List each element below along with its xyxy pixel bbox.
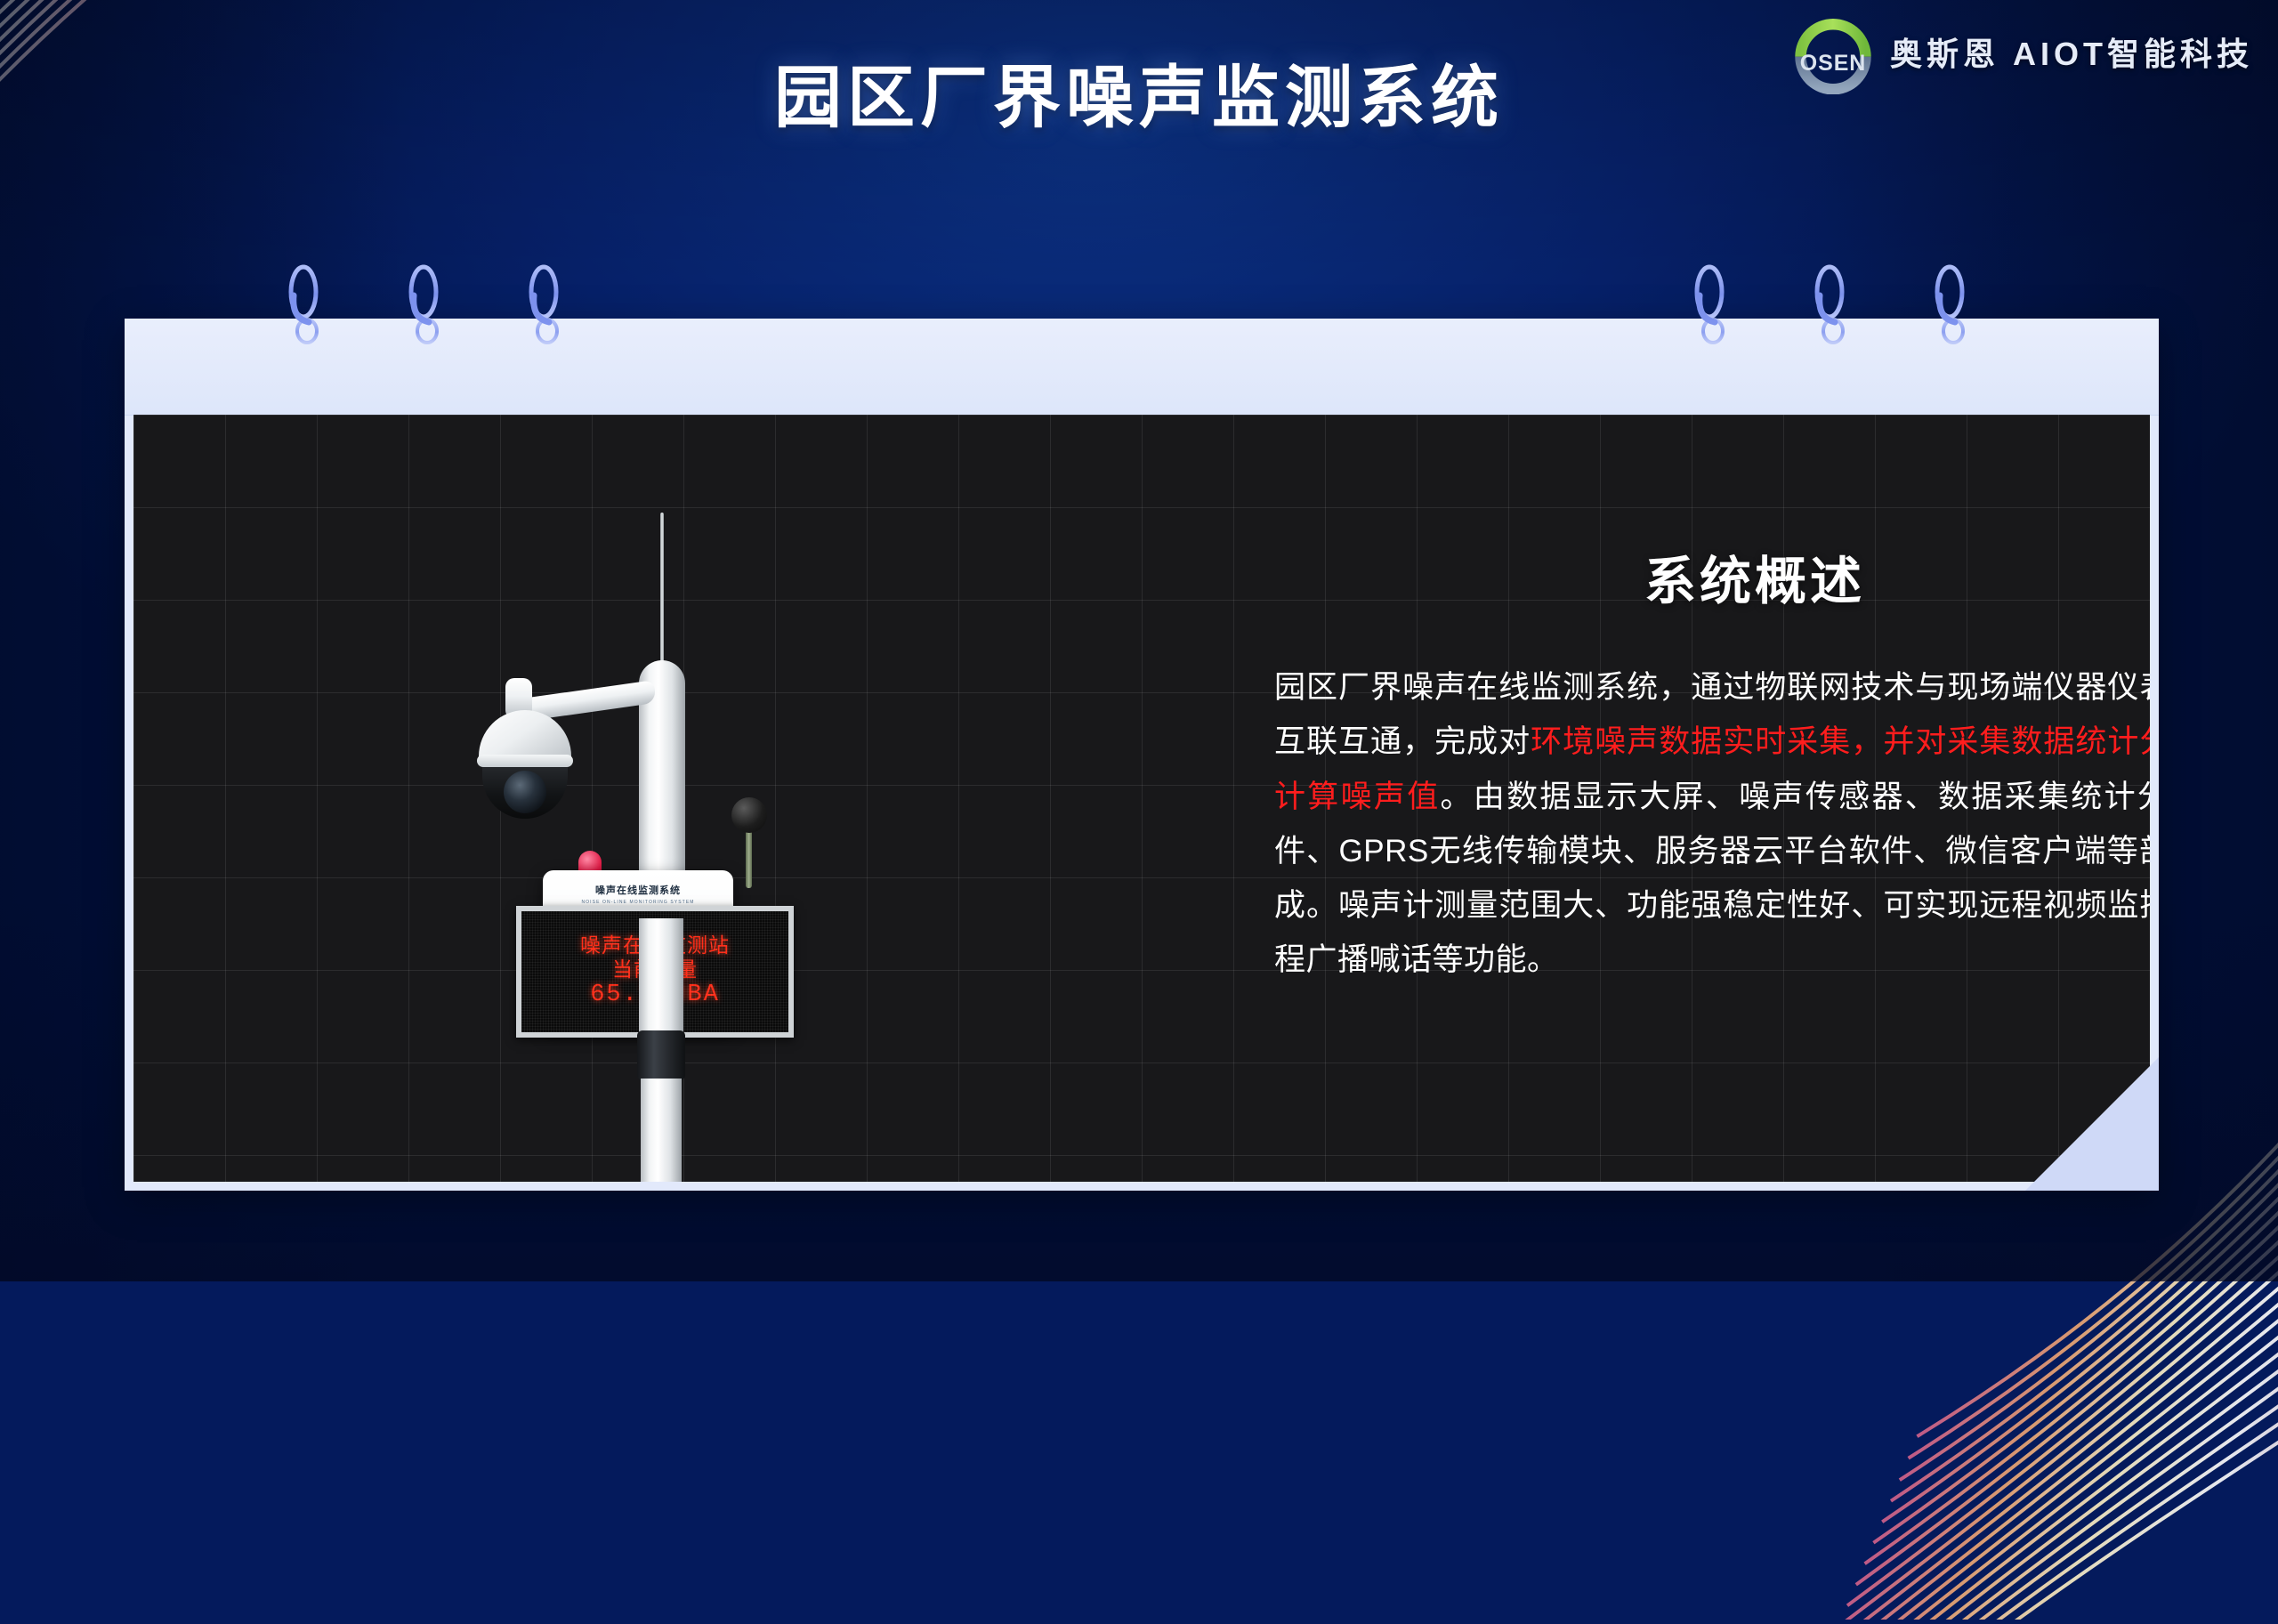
pole-lower <box>641 1079 682 1182</box>
overview-section: 系统概述 园区厂界噪声在线监测系统，通过物联网技术与现场端仪器仪表进行互联互通，… <box>1274 539 2150 988</box>
camera-dome-rim <box>477 755 573 767</box>
spiral-binding-ring-3 <box>525 260 566 352</box>
cabinet-title-en: NOISE ON-LINE MONITORING SYSTEM <box>543 900 733 905</box>
pole-mid <box>639 918 683 1043</box>
spiral-binding-ring-5 <box>1811 260 1852 352</box>
osen-ring-logo-icon: OSEN <box>1790 9 1876 94</box>
content-card: 噪声在线监测系统 NOISE ON-LINE MONITORING SYSTEM… <box>125 319 2159 1191</box>
camera-lens-icon <box>504 771 546 813</box>
svg-text:OSEN: OSEN <box>1800 51 1867 76</box>
microphone-stem <box>746 826 752 888</box>
overview-heading: 系统概述 <box>1274 539 2150 614</box>
spiral-binding-ring-1 <box>285 260 326 352</box>
card-inner-panel: 噪声在线监测系统 NOISE ON-LINE MONITORING SYSTEM… <box>133 415 2150 1182</box>
spiral-binding-ring-4 <box>1691 260 1732 352</box>
microphone-windscreen-icon <box>731 797 767 833</box>
cabinet-title-cn: 噪声在线监测系统 <box>543 883 733 897</box>
brand-name: 奥斯恩 AIOT智能科技 <box>1890 28 2253 75</box>
pole-collar <box>637 1030 685 1080</box>
noise-monitoring-station-image: 噪声在线监测系统 NOISE ON-LINE MONITORING SYSTEM… <box>400 504 899 1182</box>
antenna-icon <box>660 513 664 673</box>
overview-paragraph: 园区厂界噪声在线监测系统，通过物联网技术与现场端仪器仪表进行互联互通，完成对环境… <box>1274 660 2150 988</box>
brand-lockup: OSEN 奥斯恩 AIOT智能科技 <box>1790 9 2253 94</box>
spiral-binding-ring-2 <box>405 260 446 352</box>
spiral-binding-ring-6 <box>1931 260 1972 352</box>
